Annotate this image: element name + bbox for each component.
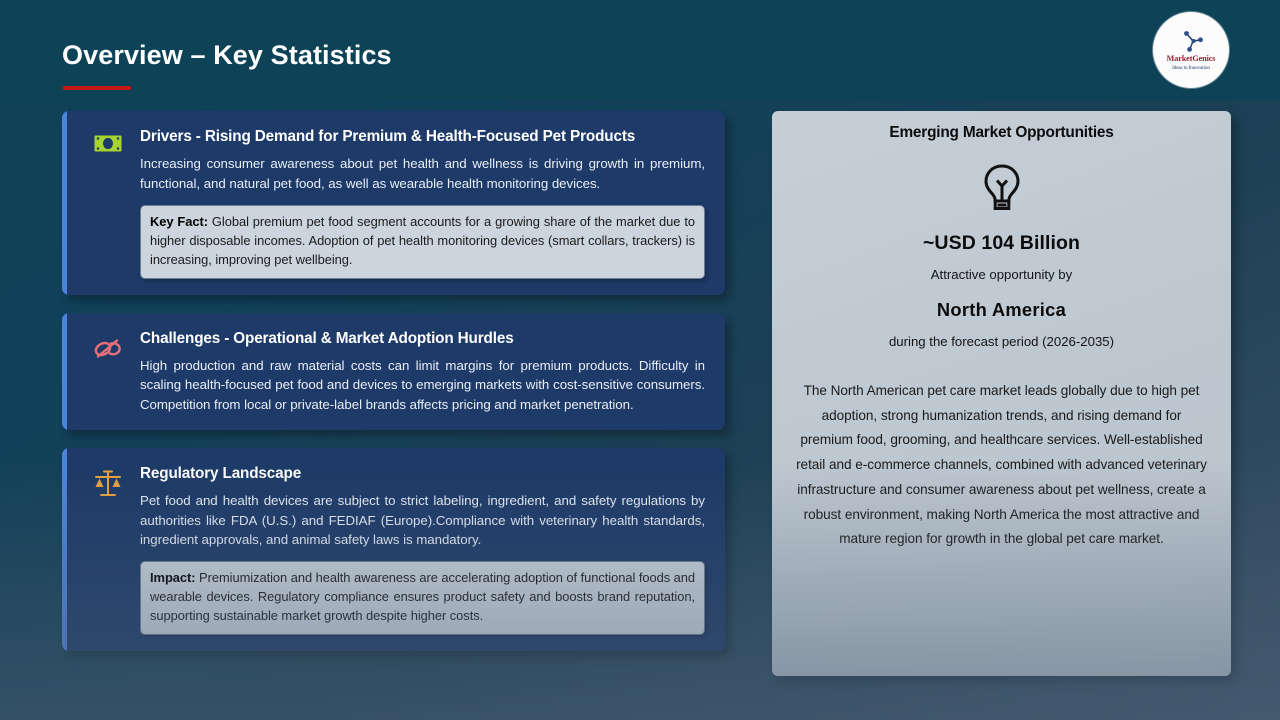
- card-body: Pet food and health devices are subject …: [140, 491, 705, 549]
- emerging-market-opportunities-panel: Emerging Market Opportunities ~USD 104 B…: [772, 111, 1231, 676]
- title-underline-rule: [63, 86, 131, 90]
- key-statistics-card-list: Drivers - Rising Demand for Premium & He…: [62, 111, 725, 651]
- money-banknote-icon: [88, 132, 128, 172]
- panel-title: Emerging Market Opportunities: [788, 124, 1215, 142]
- region-description: The North American pet care market leads…: [788, 379, 1215, 552]
- logo-name: MarketGenics: [1167, 55, 1216, 63]
- balance-scales-icon: [88, 469, 128, 509]
- callout-label: Key Fact:: [150, 214, 208, 229]
- card-accent-bar: [62, 313, 67, 430]
- card-drivers: Drivers - Rising Demand for Premium & He…: [62, 111, 725, 295]
- callout-text: Premiumization and health awareness are …: [150, 570, 695, 623]
- impact-callout: Impact: Premiumization and health awaren…: [140, 561, 705, 635]
- brand-logo: MarketGenics Ideas to Innovation: [1153, 12, 1229, 88]
- card-accent-bar: [62, 448, 67, 651]
- region-name: North America: [788, 299, 1215, 321]
- card-title: Drivers - Rising Demand for Premium & He…: [140, 128, 705, 146]
- logo-tagline: Ideas to Innovation: [1172, 66, 1210, 71]
- opportunity-subtitle: Attractive opportunity by: [788, 267, 1215, 282]
- card-regulatory-landscape: Regulatory Landscape Pet food and health…: [62, 448, 725, 651]
- broken-link-icon: [88, 334, 128, 374]
- card-accent-bar: [62, 111, 67, 295]
- card-body: Increasing consumer awareness about pet …: [140, 154, 705, 193]
- market-value: ~USD 104 Billion: [788, 232, 1215, 255]
- card-body: High production and raw material costs c…: [140, 356, 705, 414]
- page-title: Overview – Key Statistics: [62, 40, 392, 71]
- card-challenges: Challenges - Operational & Market Adopti…: [62, 313, 725, 430]
- slide-root: Overview – Key Statistics MarketGenics I…: [0, 0, 1280, 720]
- molecule-node-icon: [1176, 29, 1206, 54]
- card-title: Regulatory Landscape: [140, 465, 705, 483]
- card-title: Challenges - Operational & Market Adopti…: [140, 330, 705, 348]
- forecast-period: during the forecast period (2026-2035): [788, 334, 1215, 349]
- callout-label: Impact:: [150, 570, 196, 585]
- callout-text: Global premium pet food segment accounts…: [150, 214, 695, 267]
- key-fact-callout: Key Fact: Global premium pet food segmen…: [140, 205, 705, 279]
- lightbulb-icon: [788, 162, 1215, 216]
